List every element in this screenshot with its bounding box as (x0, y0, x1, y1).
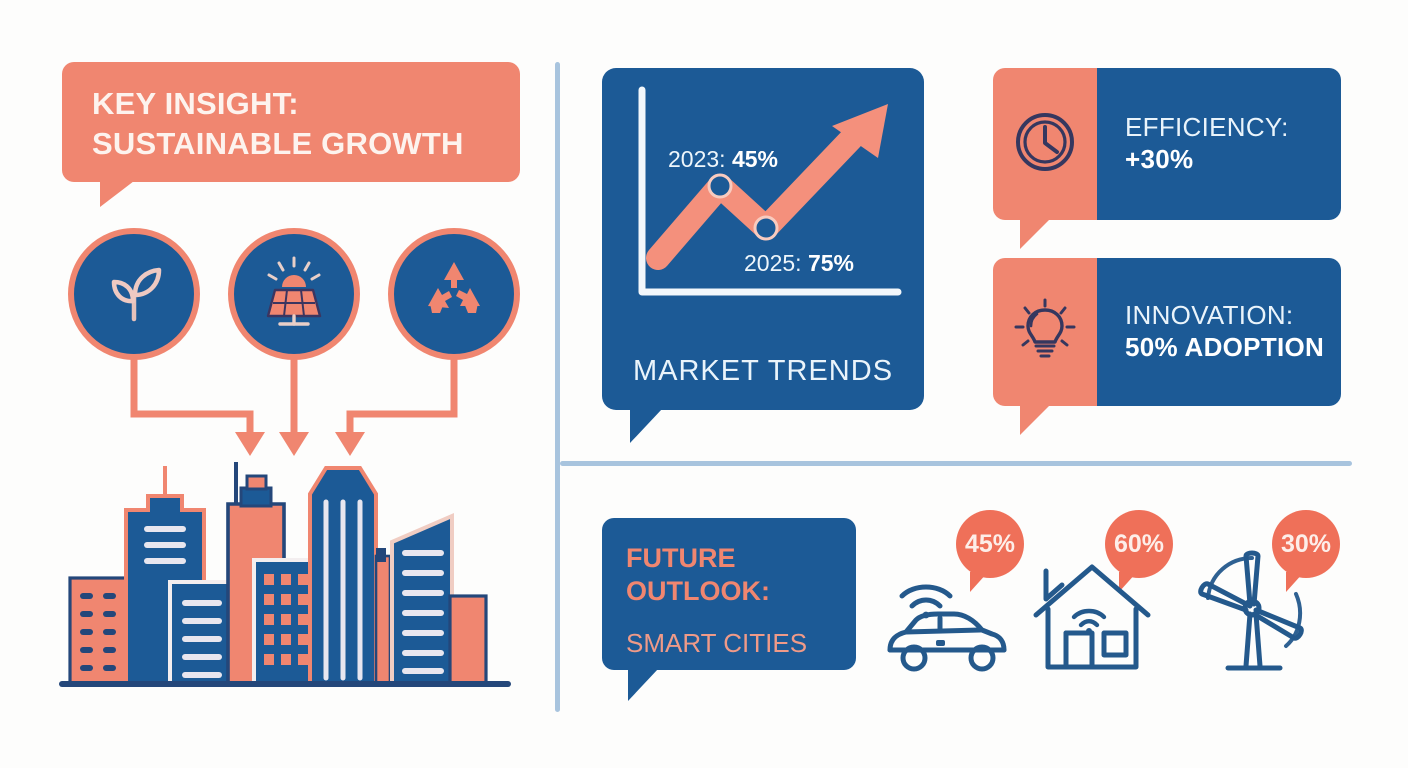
vertical-divider (555, 62, 560, 712)
wind-turbine-icon (1188, 548, 1318, 680)
metric-bubble-smart-car-label: 45% (965, 530, 1015, 559)
pillar-circle-sustainability[interactable] (68, 228, 200, 360)
stat-efficiency-line1: EFFICIENCY: (1125, 112, 1341, 144)
stat-text-pane-efficiency: EFFICIENCY: +30% (1097, 68, 1341, 220)
key-insight-text: KEY INSIGHT: SUSTAINABLE GROWTH (92, 84, 502, 163)
stat-text-pane-innovation: INNOVATION: 50% ADOPTION (1097, 258, 1341, 406)
future-outlook-card[interactable]: FUTURE OUTLOOK: SMART CITIES (602, 518, 856, 670)
pillar-circle-solar[interactable] (228, 228, 360, 360)
stat-icon-pane-efficiency (993, 68, 1097, 220)
clock-icon (1014, 111, 1076, 178)
stat-icon-pane-innovation (993, 258, 1097, 406)
metric-bubble-smart-car[interactable]: 45% (956, 510, 1024, 578)
market-trends-card[interactable]: 2023: 45% 2025: 75% MARKET TRENDS (602, 68, 924, 410)
chart-label-2023: 2023: 45% (668, 146, 778, 173)
chart-label-2025: 2025: 75% (744, 250, 854, 277)
future-outlook-card-tail (628, 669, 658, 701)
stat-efficiency-line2: +30% (1125, 144, 1341, 176)
smart-home-icon (1030, 555, 1154, 679)
chart-label-2025-value: 75% (808, 250, 854, 276)
chart-label-2023-value: 45% (732, 146, 778, 172)
solar-panel-icon (256, 254, 332, 335)
lightbulb-icon (1013, 298, 1077, 367)
future-outlook-title: FUTURE OUTLOOK: (626, 542, 844, 608)
key-insight-line1: KEY INSIGHT: (92, 84, 502, 124)
trend-chart-graphic (620, 82, 906, 314)
pillar-circle-recycling[interactable] (388, 228, 520, 360)
stat-card-efficiency-tail (1020, 219, 1050, 249)
market-trends-title: MARKET TRENDS (602, 355, 924, 388)
key-insight-banner-tail (100, 181, 134, 207)
stat-innovation-line2: 50% ADOPTION (1125, 332, 1341, 364)
stat-card-innovation[interactable]: INNOVATION: 50% ADOPTION (993, 258, 1341, 406)
chart-label-2023-year: 2023: (668, 146, 732, 172)
pillar-connectors (60, 352, 480, 462)
smart-car-icon (880, 572, 1012, 682)
cityscape-illustration (58, 452, 526, 692)
chart-label-2025-year: 2025: (744, 250, 808, 276)
stat-card-innovation-tail (1020, 405, 1050, 435)
horizontal-divider (560, 461, 1352, 466)
plant-leaf-icon (97, 255, 171, 334)
key-insight-line2: SUSTAINABLE GROWTH (92, 124, 502, 164)
infographic-canvas: KEY INSIGHT: SUSTAINABLE GROWTH (0, 0, 1408, 768)
recycle-icon (418, 256, 490, 333)
key-insight-banner: KEY INSIGHT: SUSTAINABLE GROWTH (62, 62, 520, 182)
market-trends-card-tail (630, 409, 662, 443)
stat-innovation-line1: INNOVATION: (1125, 300, 1341, 332)
stat-card-efficiency[interactable]: EFFICIENCY: +30% (993, 68, 1341, 220)
future-outlook-subtitle: SMART CITIES (626, 628, 846, 659)
